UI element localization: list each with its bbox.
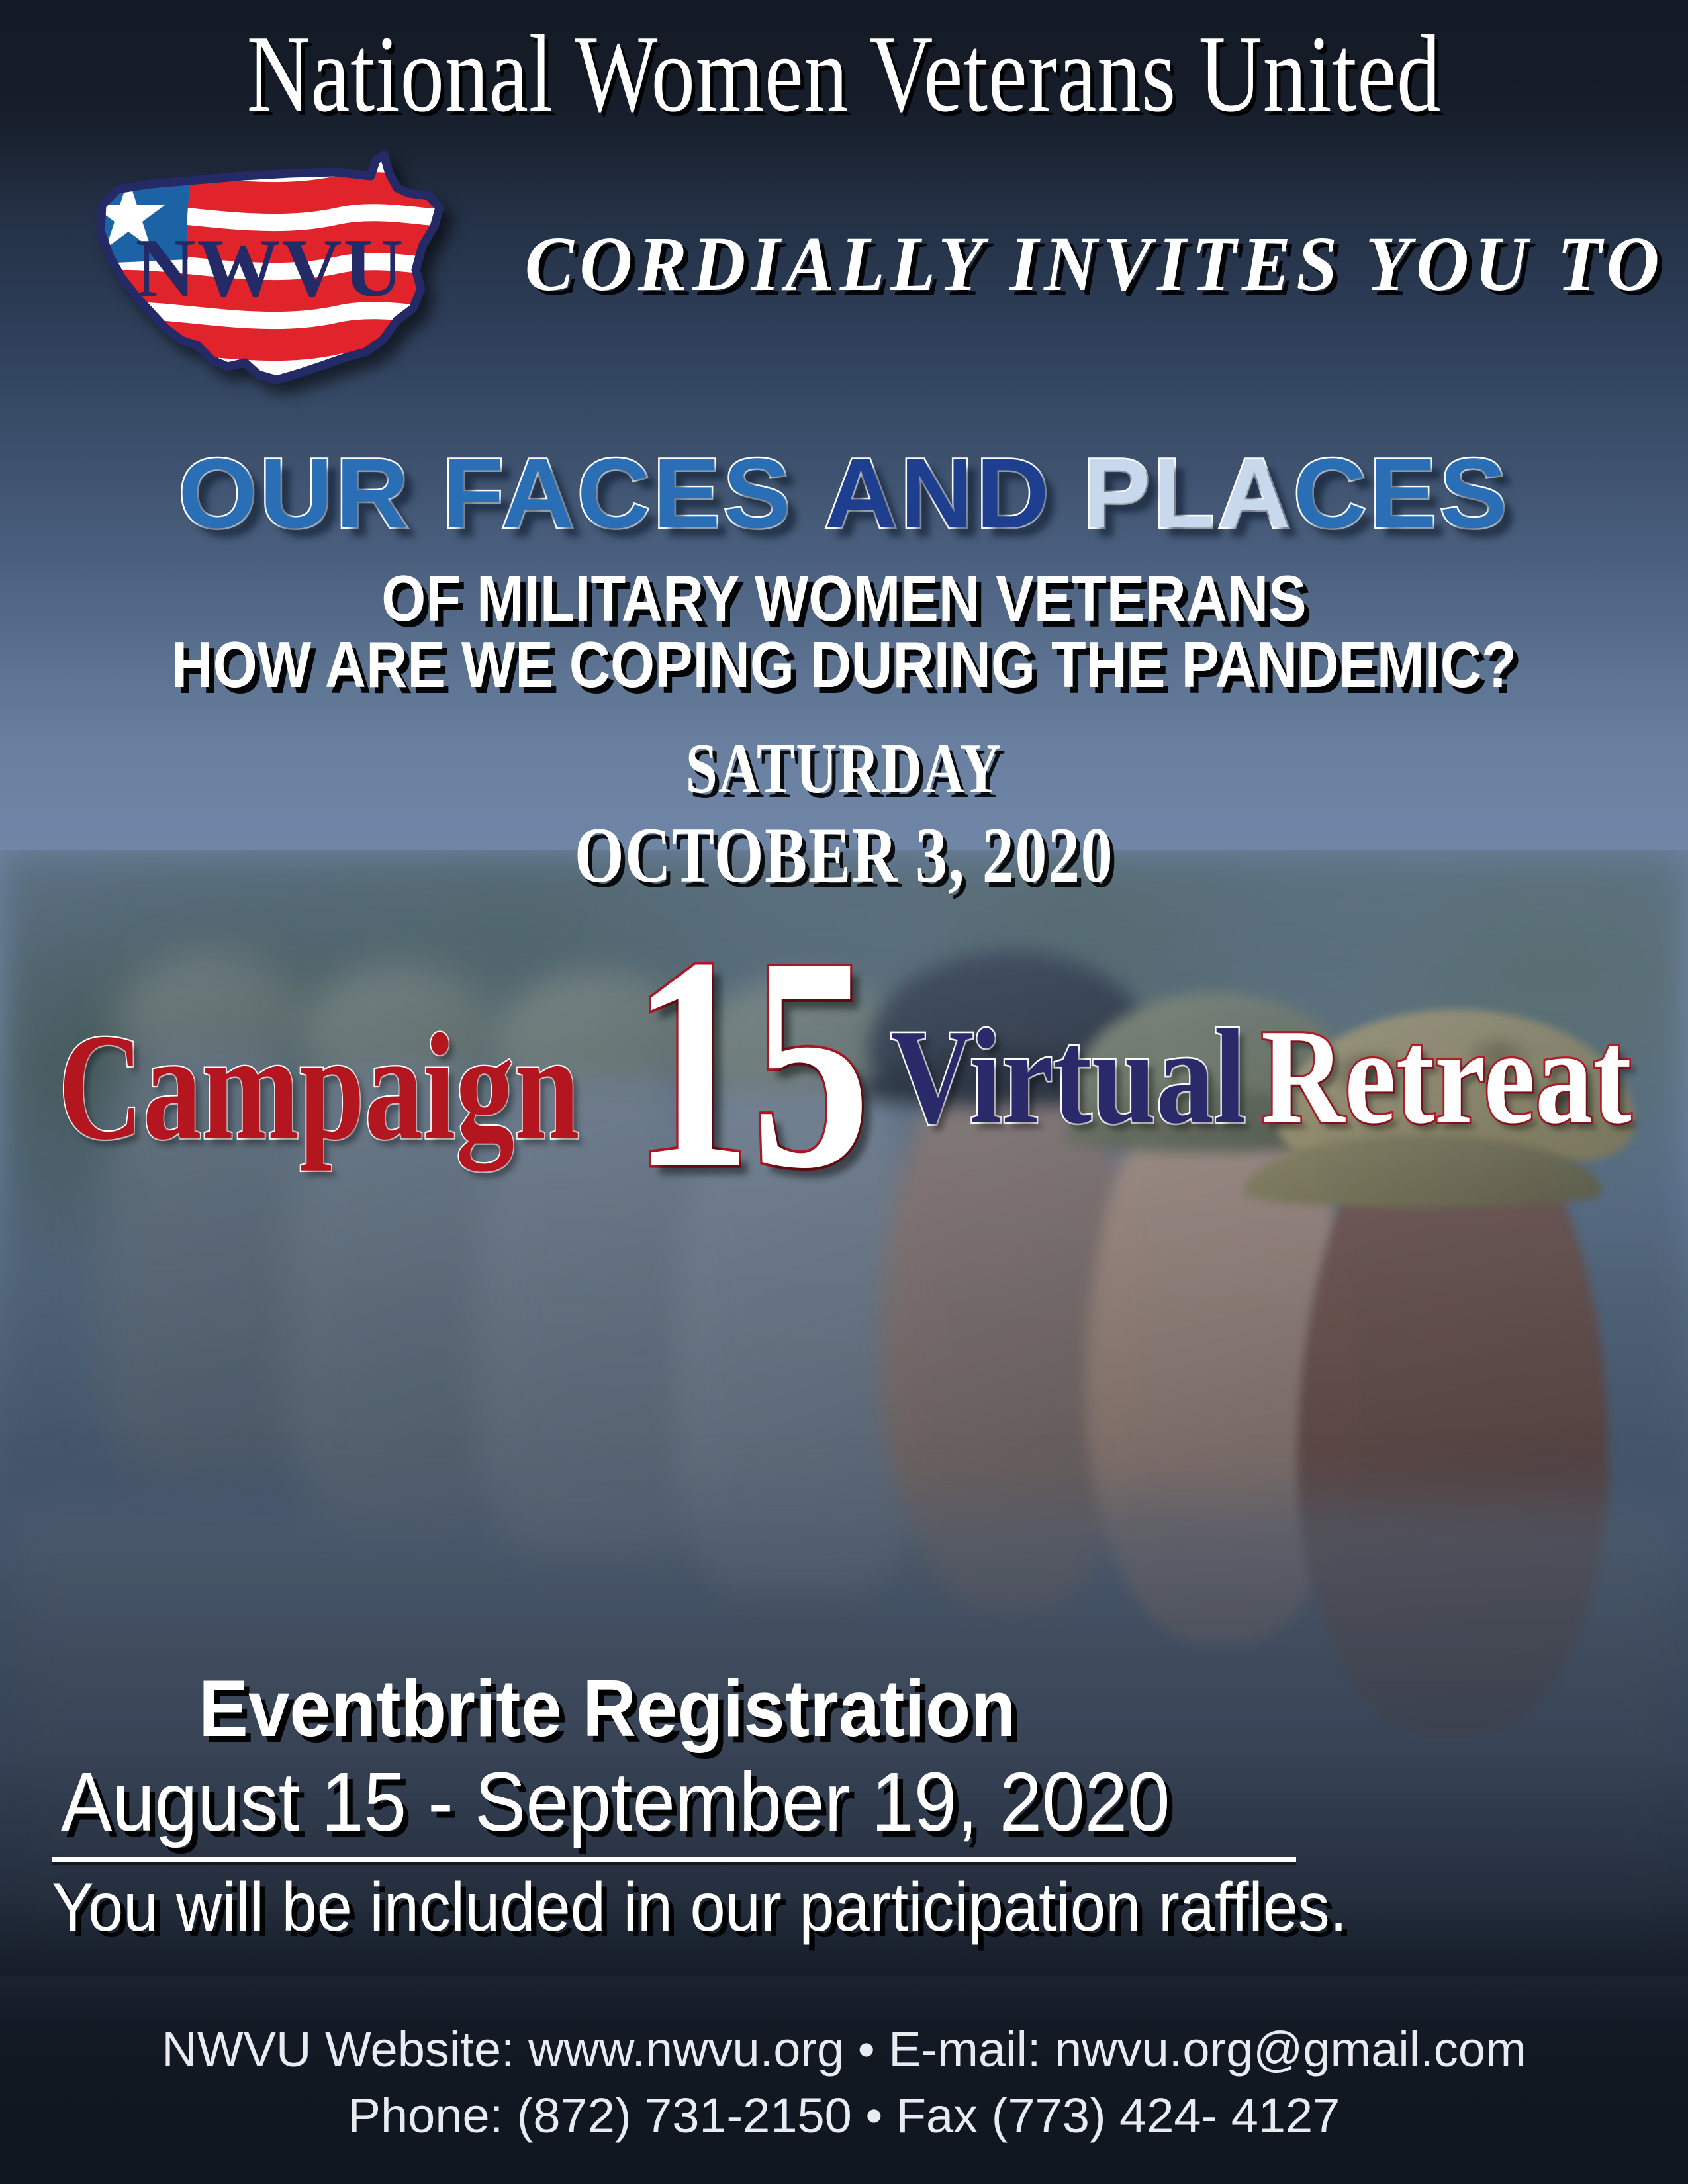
headline-space-1	[412, 437, 443, 549]
virtual-word: Virtual	[890, 1009, 1246, 1145]
registration-divider	[52, 1857, 1296, 1862]
headline-space-2	[794, 437, 825, 549]
nwvu-logo: NWVU	[71, 147, 469, 395]
headline-space-3	[1052, 437, 1083, 549]
organization-title: National Women Veterans United	[169, 19, 1519, 128]
campaign-title-group: Campaign 15 Virtual Retreat	[0, 923, 1688, 1201]
event-day: SATURDAY	[169, 733, 1519, 805]
campaign-word: Campaign	[58, 1011, 580, 1163]
headline-word-a: A	[1217, 437, 1293, 549]
registration-note: You will be included in our participatio…	[52, 1873, 1347, 1942]
registration-dates: August 15 - September 19, 2020	[61, 1760, 1170, 1844]
event-date: OCTOBER 3, 2020	[169, 815, 1519, 895]
footer-web-email: NWVU Website: www.nwvu.org • E-mail: nwv…	[0, 2025, 1688, 2074]
headline-subtitle-2: HOW ARE WE COPING DURING THE PANDEMIC?	[101, 632, 1587, 697]
campaign-number: 15	[632, 911, 870, 1215]
headline-word-faces: FACES	[442, 437, 794, 549]
retreat-word: Retreat	[1261, 1009, 1632, 1145]
svg-text:NWVU: NWVU	[136, 222, 405, 314]
main-headline: OUR FACES AND PLACES	[0, 443, 1688, 543]
headline-subtitle-1: OF MILITARY WOMEN VETERANS	[101, 566, 1587, 631]
event-flyer: National Women Veterans United	[0, 0, 1688, 2184]
headline-word-our: OUR	[178, 437, 411, 549]
footer-phone-fax: Phone: (872) 731-2150 • Fax (773) 424- 4…	[0, 2091, 1688, 2140]
headline-word-ces: CES	[1293, 437, 1510, 549]
invitation-line: CORDIALLY INVITES YOU TO	[525, 225, 1620, 303]
headline-word-pl: PL	[1083, 437, 1218, 549]
registration-title: Eventbrite Registration	[199, 1668, 1016, 1749]
headline-word-and: AND	[824, 437, 1052, 549]
